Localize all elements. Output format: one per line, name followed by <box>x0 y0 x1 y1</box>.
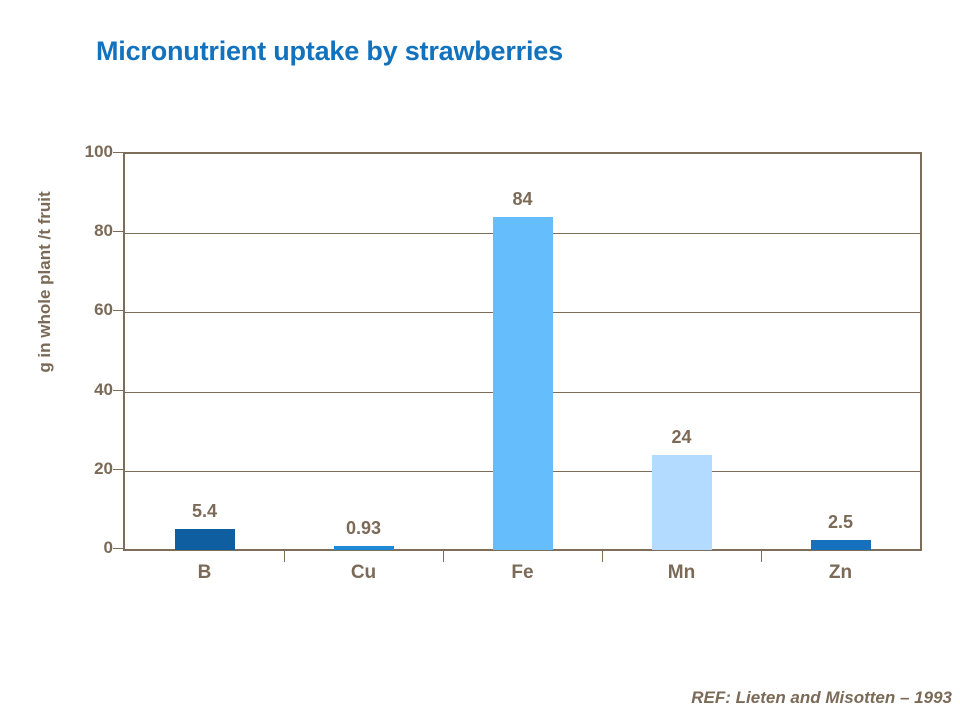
bar[interactable] <box>811 540 871 550</box>
reference-note: REF: Lieten and Misotten – 1993 <box>691 688 952 708</box>
y-tick-label: 20 <box>53 459 113 479</box>
bar[interactable] <box>493 217 553 550</box>
x-tick-label-cu: Cu <box>351 562 376 584</box>
x-tick-label-fe: Fe <box>511 562 533 584</box>
bar-value-label: 0.93 <box>346 518 381 539</box>
x-axis-labels: BCuFeMnZn <box>123 562 922 592</box>
bar-slot: 2.5 <box>761 154 920 550</box>
bar-value-label: 5.4 <box>192 501 217 522</box>
bar-slot: 5.4 <box>125 154 284 550</box>
x-tick-label-zn: Zn <box>829 562 852 584</box>
y-tick-mark <box>113 469 123 470</box>
bar-slot: 84 <box>443 154 602 550</box>
bar-value-label: 2.5 <box>828 512 853 533</box>
y-tick-mark <box>113 310 123 311</box>
x-tick-mark <box>602 551 603 562</box>
y-tick-label: 80 <box>53 221 113 241</box>
x-tick-mark <box>284 551 285 562</box>
bar[interactable] <box>652 455 712 550</box>
bar-slot: 24 <box>602 154 761 550</box>
bar[interactable] <box>175 529 235 550</box>
bar-value-label: 84 <box>512 189 532 210</box>
x-tick-mark <box>443 551 444 562</box>
y-axis-ticks: 020406080100 <box>47 152 113 551</box>
y-tick-label: 60 <box>53 300 113 320</box>
bar-slot: 0.93 <box>284 154 443 550</box>
x-tick-label-mn: Mn <box>668 562 695 584</box>
x-tick-label-b: B <box>198 562 212 584</box>
bar[interactable] <box>334 546 394 550</box>
bar-series: 5.40.9384242.5 <box>125 154 920 550</box>
y-tick-mark <box>113 548 123 549</box>
y-tick-label: 40 <box>53 380 113 400</box>
y-tick-mark <box>113 152 123 153</box>
bar-value-label: 24 <box>671 427 691 448</box>
slide-canvas: Micronutrient uptake by strawberries g i… <box>0 0 960 720</box>
chart-title: Micronutrient uptake by strawberries <box>96 36 563 67</box>
x-tick-mark <box>761 551 762 562</box>
y-tick-mark <box>113 390 123 391</box>
y-tick-mark <box>113 231 123 232</box>
y-tick-label: 0 <box>53 538 113 558</box>
y-tick-label: 100 <box>53 142 113 162</box>
